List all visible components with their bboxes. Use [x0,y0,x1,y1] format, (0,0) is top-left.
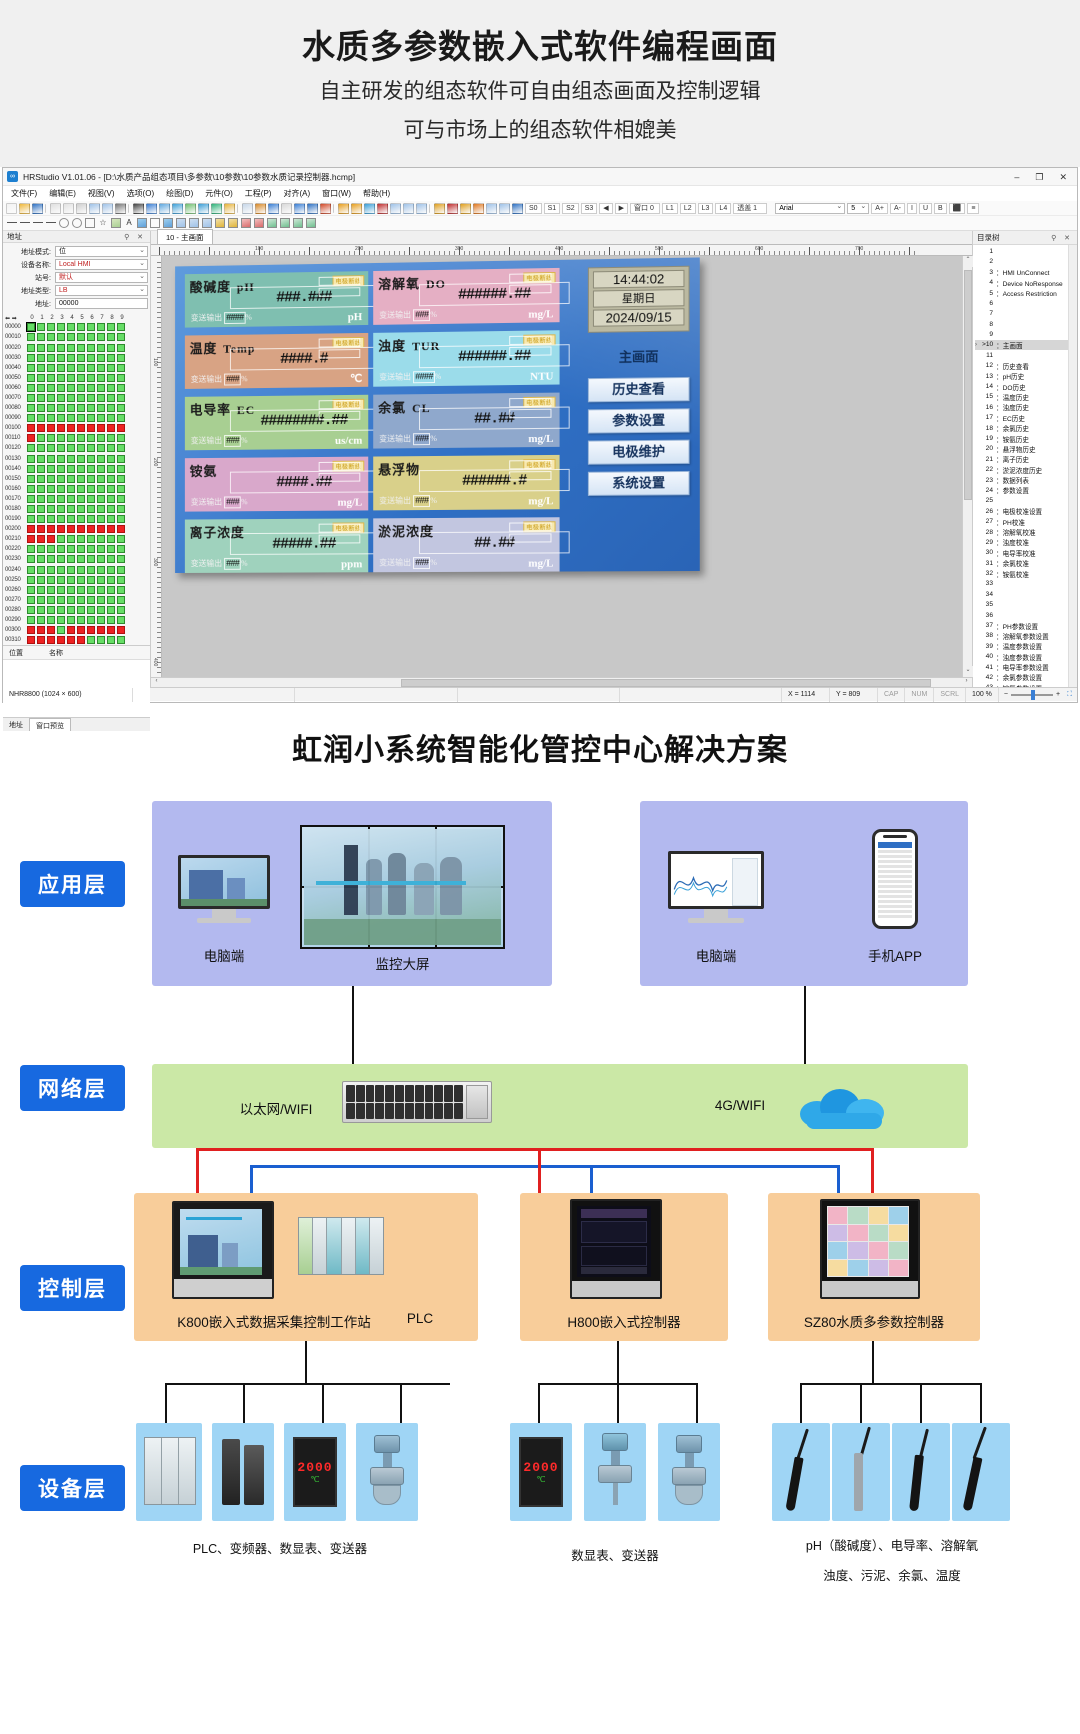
address-bit-cell[interactable] [107,485,115,493]
address-bit-cell[interactable] [97,535,105,543]
main-toolbar[interactable]: S0S1S2S3◀▶窗口 0L1L2L3L4透盖 1Arial5A+A-IUB⬛… [3,201,1077,216]
address-bit-cell[interactable] [37,414,45,422]
zoom-track[interactable] [1011,694,1053,696]
toolbar-icon-7[interactable] [102,203,113,214]
address-bit-cell[interactable] [67,455,75,463]
address-bit-cell[interactable] [37,364,45,372]
hmi-parameter-card-pH[interactable]: 酸碱度pH电极断线###.###变送输出 ####%pH [185,271,368,327]
address-bit-cell[interactable] [87,535,95,543]
address-bit-cell[interactable] [57,404,65,412]
toolbar-font-btn-4[interactable]: B [934,203,947,214]
address-bit-cell[interactable] [87,495,95,503]
address-bit-cell[interactable] [47,404,55,412]
address-bit-cell[interactable] [37,455,45,463]
address-bit-cell[interactable] [97,394,105,402]
address-bit-cell[interactable] [77,626,85,634]
address-bit-cell[interactable] [57,374,65,382]
address-bit-cell[interactable] [67,475,75,483]
address-bit-cell[interactable] [117,576,125,584]
draw-tool-curve-icon[interactable] [46,222,56,228]
address-bit-cell[interactable] [27,404,35,412]
address-panel-pin-close-icons[interactable]: ⚲ ✕ [124,233,146,241]
address-bit-cell[interactable] [87,333,95,341]
card-indicator-lamps[interactable] [319,277,361,300]
tree-node-18[interactable]: 18：余氯历史 [975,423,1068,433]
address-bit-cell[interactable] [77,394,85,402]
hmi-parameter-card-铵氨[interactable]: 铵氨电极断线####.##变送输出 ###%mg/L [185,457,368,512]
window-controls[interactable]: – ❐ ✕ [1014,172,1073,182]
address-bit-cell[interactable] [27,616,35,624]
draw-tool-sld-icon[interactable] [254,218,264,228]
address-bit-cell[interactable] [27,475,35,483]
address-bit-cell[interactable] [77,354,85,362]
address-bit-cell[interactable] [67,384,75,392]
draw-tool-frame-icon[interactable] [150,218,160,228]
draw-tool-bit-icon[interactable] [189,218,199,228]
address-bit-cell[interactable] [117,535,125,543]
address-bit-cell[interactable] [107,545,115,553]
toolbar-icon-18[interactable] [255,203,266,214]
address-bit-cell[interactable] [77,444,85,452]
tree-node-17[interactable]: 17：EC历史 [975,413,1068,423]
toolbar-font-btn-3[interactable]: U [919,203,932,214]
address-bit-cell[interactable] [57,394,65,402]
address-bit-cell[interactable] [47,616,55,624]
address-bit-cell[interactable] [77,596,85,604]
address-bit-cell[interactable] [27,465,35,473]
tree-node-2[interactable]: 2 [975,257,1068,267]
toolbar-next-window[interactable]: ▶ [615,203,628,214]
hmi-parameter-card-CL[interactable]: 余氯CL电极断线##.##变送输出 ###%mg/L [373,393,559,449]
toolbar-layer-select[interactable]: 透盖 1 [733,203,767,214]
address-bit-cell[interactable] [67,515,75,523]
address-bit-cell[interactable] [27,525,35,533]
address-bit-cell[interactable] [47,535,55,543]
address-bit-cell[interactable] [107,333,115,341]
address-bit-cell[interactable] [37,505,45,513]
address-bit-cell[interactable] [37,566,45,574]
address-bit-cell[interactable] [27,586,35,594]
address-bit-cell[interactable] [77,525,85,533]
address-bit-cell[interactable] [67,616,75,624]
draw-tool-num-icon[interactable] [215,218,225,228]
hmi-button-main-screen[interactable]: 主画面 [588,346,690,372]
tree-node-38[interactable]: 38：溶解氧参数设置 [975,631,1068,641]
address-field-select-3[interactable]: LB [55,285,148,296]
card-indicator-lamps[interactable] [509,523,551,545]
tree-node-35[interactable]: 35 [975,600,1068,610]
address-bit-cell[interactable] [97,354,105,362]
toolbar-icon-19[interactable] [268,203,279,214]
address-bit-cell[interactable] [27,566,35,574]
address-bit-cell[interactable] [117,323,125,331]
draw-tool-mtr-icon[interactable] [267,218,277,228]
address-bit-cell[interactable] [57,535,65,543]
address-bit-cell[interactable] [27,333,35,341]
address-bit-cell[interactable] [27,384,35,392]
address-bit-cell[interactable] [47,515,55,523]
address-bit-cell[interactable] [107,354,115,362]
address-bit-cell[interactable] [77,606,85,614]
tree-node-24[interactable]: 24：参数设置 [975,485,1068,495]
maximize-button[interactable]: ❐ [1035,172,1043,182]
card-indicator-lamps[interactable] [509,273,551,296]
toolbar-state-S2[interactable]: S2 [562,203,579,214]
address-bit-cell[interactable] [87,636,95,644]
toolbar-icon-26[interactable] [364,203,375,214]
toolbar-icon-35[interactable] [486,203,497,214]
address-bit-cell[interactable] [37,606,45,614]
toolbar-icon-12[interactable] [172,203,183,214]
hmi-button-electrode-maintenance[interactable]: 电极维护 [588,440,690,465]
address-bit-cell[interactable] [37,636,45,644]
tree-node-16[interactable]: 16：浊度历史 [975,402,1068,412]
address-bit-cell[interactable] [97,566,105,574]
hmi-button-parameter-setting[interactable]: 参数设置 [588,409,690,434]
address-bit-cell[interactable] [97,475,105,483]
address-bit-cell[interactable] [47,344,55,352]
tree-node-37[interactable]: 37：PH参数设置 [975,620,1068,630]
address-bit-cell[interactable] [67,555,75,563]
address-bit-cell[interactable] [77,576,85,584]
toolbar-prev-window[interactable]: ◀ [599,203,612,214]
address-bit-cell[interactable] [107,606,115,614]
address-bit-cell[interactable] [97,525,105,533]
address-bit-cell[interactable] [107,444,115,452]
toolbar-icon-4[interactable] [63,203,74,214]
address-bit-cell[interactable] [27,374,35,382]
hmi-screen-preview[interactable]: 酸碱度pH电极断线###.###变送输出 ####%pH溶解氧DO电极断线###… [175,258,700,574]
toolbar-font-btn-0[interactable]: A+ [871,203,888,214]
address-bit-cell[interactable] [57,515,65,523]
address-bit-cell[interactable] [107,475,115,483]
address-bit-cell[interactable] [37,333,45,341]
address-bit-cell[interactable] [97,444,105,452]
toolbar-icon-6[interactable] [89,203,100,214]
address-bit-cell[interactable] [37,515,45,523]
card-indicator-lamps[interactable] [319,338,361,360]
address-bit-cell[interactable] [47,495,55,503]
tree-node-14[interactable]: 14：DO历史 [975,381,1068,391]
canvas-horizontal-scrollbar[interactable]: ‹ › [151,677,972,687]
address-bit-cell[interactable] [47,485,55,493]
tree-node-20[interactable]: 20：悬浮物历史 [975,444,1068,454]
address-bit-cell[interactable] [57,323,65,331]
tree-node-5[interactable]: 5：Access Restriction [975,288,1068,298]
hmi-button-system-setting[interactable]: 系统设置 [588,471,690,496]
address-bit-cell[interactable] [97,636,105,644]
address-bit-cell[interactable] [77,566,85,574]
address-bit-cell[interactable] [87,566,95,574]
address-bit-cell[interactable] [107,505,115,513]
toolbar-window-select[interactable]: 窗口 0 [630,203,660,214]
address-bit-cell[interactable] [47,323,55,331]
address-bit-cell[interactable] [77,636,85,644]
tree-node-39[interactable]: 39：温度参数设置 [975,641,1068,651]
address-bit-cell[interactable] [117,333,125,341]
tree-node-13[interactable]: 13：pH历史 [975,371,1068,381]
address-bit-cell[interactable] [97,555,105,563]
toolbar-icon-9[interactable] [133,203,144,214]
address-bit-cell[interactable] [97,596,105,604]
fit-screen-icon[interactable]: ⛶ [1067,691,1072,699]
address-bit-cell[interactable] [97,323,105,331]
toolbar-icon-14[interactable] [198,203,209,214]
zoom-knob[interactable] [1031,690,1035,700]
address-bit-cell[interactable] [27,424,35,432]
address-bit-cell[interactable] [107,323,115,331]
address-bit-cell[interactable] [77,465,85,473]
address-bit-cell[interactable] [27,535,35,543]
hmi-parameter-card-悬浮物[interactable]: 悬浮物电极断线######.#变送输出 ###%mg/L [373,455,559,511]
address-bit-cell[interactable] [47,636,55,644]
address-bit-cell[interactable] [117,434,125,442]
toolbar-icon-17[interactable] [242,203,253,214]
address-bit-cell[interactable] [77,374,85,382]
toolbar-layer-L3[interactable]: L3 [698,203,714,214]
scroll-right-icon[interactable]: › [961,678,972,688]
toolbar-icon-16[interactable] [224,203,235,214]
tree-node-25[interactable]: 25 [975,496,1068,506]
document-tabs[interactable]: 10 - 主画面 [151,231,972,245]
zoom-in-icon[interactable]: + [1056,691,1060,698]
draw-tool-tbl-icon[interactable] [176,218,186,228]
tab-address[interactable]: 地址 [3,718,29,731]
toolbar-icon-25[interactable] [351,203,362,214]
address-bit-cell[interactable] [117,596,125,604]
address-bit-cell[interactable] [67,596,75,604]
address-bit-cell[interactable] [97,626,105,634]
card-indicator-lamps[interactable] [319,400,361,422]
address-bit-cell[interactable] [97,344,105,352]
tree-node-21[interactable]: 21：离子历史 [975,454,1068,464]
address-grid-nav-arrows[interactable]: ⬅ ➡ [5,315,27,322]
toolbar-icon-27[interactable] [377,203,388,214]
toolbar-icon-34[interactable] [473,203,484,214]
address-bit-cell[interactable] [67,354,75,362]
toolbar-font-btn-5[interactable]: ⬛ [949,203,966,214]
address-bit-cell[interactable] [47,606,55,614]
address-bit-cell[interactable] [47,465,55,473]
address-bit-cell[interactable] [97,374,105,382]
toolbar-icon-32[interactable] [447,203,458,214]
address-bit-cell[interactable] [37,394,45,402]
tree-node-27[interactable]: 27：PH校准 [975,516,1068,526]
toolbar-icon-13[interactable] [185,203,196,214]
tree-node-30[interactable]: 30：电导率校准 [975,548,1068,558]
address-bit-cell[interactable] [77,404,85,412]
address-bit-cell[interactable] [107,374,115,382]
address-bit-cell[interactable] [117,515,125,523]
address-bit-cell[interactable] [47,394,55,402]
toolbar-font-btn-2[interactable]: I [907,203,917,214]
address-bit-cell[interactable] [87,606,95,614]
address-bit-cell[interactable] [107,455,115,463]
tree-node-43[interactable]: 43：铵氨参数设置 [975,683,1068,688]
address-bit-cell[interactable] [27,323,35,331]
tree-node-1[interactable]: 1 [975,246,1068,256]
toolbar-icon-11[interactable] [159,203,170,214]
scroll-left-icon[interactable]: ‹ [151,678,162,688]
toolbar-icon-22[interactable] [307,203,318,214]
tree-node-15[interactable]: 15：温度历史 [975,392,1068,402]
draw-tool-pie-icon[interactable] [72,218,82,228]
address-bit-cell[interactable] [47,455,55,463]
address-bit-cell[interactable] [57,384,65,392]
address-bit-cell[interactable] [67,545,75,553]
address-bit-cell[interactable] [37,495,45,503]
hmi-parameter-card-离子浓度[interactable]: 离子浓度电极断线#####.##变送输出 ###%ppm [185,519,368,574]
address-bit-cell[interactable] [47,596,55,604]
address-bit-cell[interactable] [97,495,105,503]
address-bit-cell[interactable] [87,616,95,624]
address-bit-cell[interactable] [37,616,45,624]
address-bit-cell[interactable] [107,434,115,442]
address-bit-cell[interactable] [97,616,105,624]
menu-bar[interactable]: 文件(F) 编辑(E) 视图(V) 选项(O) 绘图(D) 元件(O) 工程(P… [3,186,1077,201]
address-bit-cell[interactable] [107,424,115,432]
tree-node-40[interactable]: 40：浊度参数设置 [975,652,1068,662]
hmi-button-history[interactable]: 历史查看 [588,377,690,402]
address-bit-cell[interactable] [27,555,35,563]
address-bit-cell[interactable] [117,545,125,553]
address-bit-cell[interactable] [67,525,75,533]
address-bit-cell[interactable] [87,465,95,473]
address-bit-cell[interactable] [67,535,75,543]
tree-node-19[interactable]: 19：铵氨历史 [975,433,1068,443]
address-bit-cell[interactable] [77,344,85,352]
address-bit-cell[interactable] [47,434,55,442]
address-bit-cell[interactable] [57,525,65,533]
address-bit-cell[interactable] [37,525,45,533]
address-bit-cell[interactable] [97,364,105,372]
address-field-select-2[interactable]: 默认 [55,272,148,283]
toolbar-icon-15[interactable] [211,203,222,214]
toolbar-state-S0[interactable]: S0 [525,203,542,214]
address-bit-cell[interactable] [37,596,45,604]
address-bit-cell[interactable] [87,424,95,432]
address-bit-cell[interactable] [67,434,75,442]
address-bit-cell[interactable] [77,495,85,503]
minimize-button[interactable]: – [1014,172,1019,182]
address-bit-cell[interactable] [47,354,55,362]
tree-node-36[interactable]: 36 [975,610,1068,620]
address-bit-cell[interactable] [77,384,85,392]
tree-node-9[interactable]: 9 [975,329,1068,339]
menu-edit[interactable]: 编辑(E) [49,188,76,199]
card-indicator-lamps[interactable] [319,524,361,546]
toolbar-icon-3[interactable] [50,203,61,214]
address-bit-cell[interactable] [77,424,85,432]
address-bit-cell[interactable] [117,455,125,463]
toolbar-icon-37[interactable] [512,203,523,214]
address-bit-cell[interactable] [67,344,75,352]
address-bit-cell[interactable] [27,394,35,402]
tree-node-10[interactable]: ›>10：主画面 [975,340,1068,350]
menu-component[interactable]: 元件(O) [205,188,233,199]
address-bit-cell[interactable] [87,596,95,604]
address-bit-cell[interactable] [57,505,65,513]
address-bit-cell[interactable] [67,566,75,574]
address-bit-cell[interactable] [77,616,85,624]
address-bit-cell[interactable] [37,555,45,563]
address-bit-cell[interactable] [107,384,115,392]
address-bit-cell[interactable] [107,535,115,543]
draw-tool-arc-icon[interactable] [33,222,43,228]
address-bit-cell[interactable] [97,434,105,442]
toolbar-state-S3[interactable]: S3 [581,203,598,214]
v-scroll-thumb[interactable] [964,270,972,500]
address-bit-cell[interactable] [117,555,125,563]
address-bit-cell[interactable] [57,424,65,432]
address-bit-cell[interactable] [47,414,55,422]
address-bit-cell[interactable] [97,485,105,493]
address-bit-cell[interactable] [27,434,35,442]
address-bit-cell[interactable] [67,333,75,341]
toolbar-icon-2[interactable] [32,203,43,214]
draw-tool-chk-icon[interactable] [241,218,251,228]
address-bit-cell[interactable] [77,434,85,442]
address-bit-cell[interactable] [47,364,55,372]
address-bit-cell[interactable] [97,465,105,473]
address-bit-cell[interactable] [67,576,75,584]
address-bit-cell[interactable] [107,404,115,412]
address-bit-cell[interactable] [67,364,75,372]
tree-node-12[interactable]: 12：历史查看 [975,361,1068,371]
draw-tool-image-icon[interactable] [137,218,147,228]
address-bit-cell[interactable] [57,333,65,341]
address-bit-cell[interactable] [57,555,65,563]
tree-node-42[interactable]: 42：余氯参数设置 [975,672,1068,682]
tree-node-4[interactable]: 4：Device NoResponse [975,277,1068,287]
address-bit-cell[interactable] [77,455,85,463]
menu-view[interactable]: 视图(V) [88,188,115,199]
address-bit-cell[interactable] [77,333,85,341]
toolbar-layer-L1[interactable]: L1 [662,203,678,214]
address-bit-cell[interactable] [47,566,55,574]
toolbar-icon-31[interactable] [434,203,445,214]
address-bit-cell[interactable] [107,495,115,503]
address-bit-cell[interactable] [117,404,125,412]
tree-panel-pin-close-icons[interactable]: ⚲ ✕ [1051,234,1073,242]
address-bit-cell[interactable] [67,606,75,614]
toolbar-icon-1[interactable] [19,203,30,214]
toolbar-icon-30[interactable] [416,203,427,214]
address-bit-cell[interactable] [107,566,115,574]
address-bit-cell[interactable] [87,384,95,392]
menu-file[interactable]: 文件(F) [11,188,37,199]
address-bit-cell[interactable] [87,586,95,594]
tree-node-33[interactable]: 33 [975,579,1068,589]
tree-node-22[interactable]: 22：淤泥浓度历史 [975,464,1068,474]
toolbar-icon-21[interactable] [294,203,305,214]
draw-tool-trd-icon[interactable] [280,218,290,228]
address-bit-cell[interactable] [97,576,105,584]
address-bit-cell[interactable] [117,424,125,432]
canvas-vertical-scrollbar[interactable]: ⌃ ⌄ [962,256,972,677]
address-bit-cell[interactable] [47,545,55,553]
toolbar-icon-20[interactable] [281,203,292,214]
toolbar-font-name[interactable]: Arial [775,203,845,214]
address-bit-cell[interactable] [87,525,95,533]
address-bit-cell[interactable] [117,495,125,503]
address-bit-cell[interactable] [57,444,65,452]
address-bit-cell[interactable] [117,475,125,483]
hmi-parameter-card-Temp[interactable]: 温度Temp电极断线####.#变送输出 ###%℃ [185,333,368,389]
menu-help[interactable]: 帮助(H) [363,188,390,199]
address-bit-cell[interactable] [97,424,105,432]
address-bit-cell[interactable] [67,495,75,503]
